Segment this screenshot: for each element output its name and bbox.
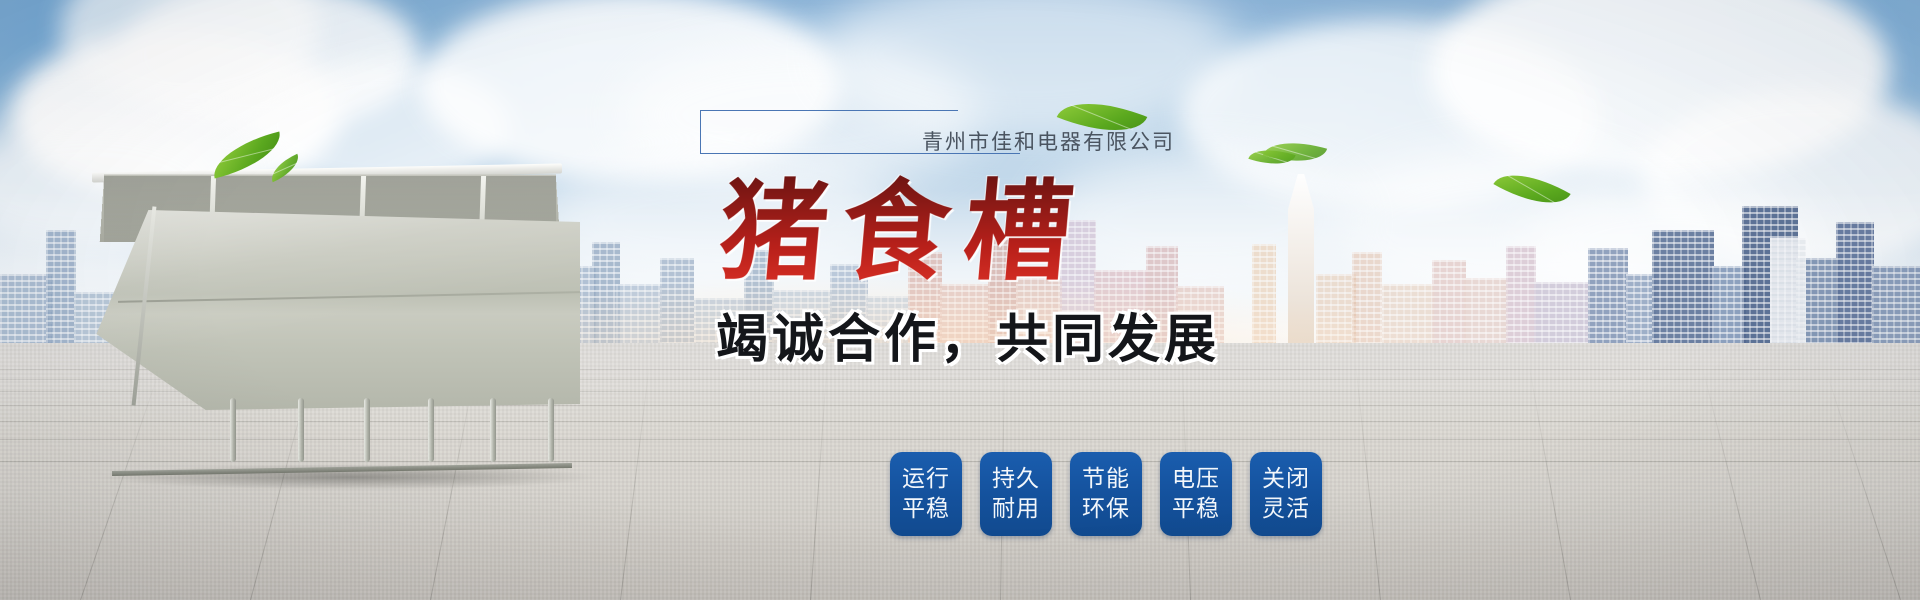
badge-line-1: 电压 bbox=[1172, 464, 1220, 494]
feature-badge[interactable]: 电压 平稳 bbox=[1160, 452, 1232, 536]
company-name-row: 青州市佳和电器有限公司 bbox=[700, 100, 1440, 166]
feature-badge[interactable]: 运行 平稳 bbox=[890, 452, 962, 536]
feature-badge[interactable]: 持久 耐用 bbox=[980, 452, 1052, 536]
tagline: 竭诚合作，共同发展 bbox=[716, 297, 1440, 372]
badge-line-2: 灵活 bbox=[1262, 494, 1310, 524]
banner-copy-block: 青州市佳和电器有限公司 猪食槽 竭诚合作，共同发展 bbox=[700, 100, 1440, 372]
product-image-pig-feeding-trough bbox=[60, 150, 580, 480]
badge-line-1: 运行 bbox=[902, 464, 950, 494]
badge-line-2: 耐用 bbox=[992, 494, 1040, 524]
feature-badge[interactable]: 节能 环保 bbox=[1070, 452, 1142, 536]
decorative-frame bbox=[700, 110, 958, 154]
feature-badge-list: 运行 平稳 持久 耐用 节能 环保 电压 平稳 关闭 灵活 bbox=[890, 452, 1322, 536]
badge-line-1: 关闭 bbox=[1262, 464, 1310, 494]
badge-line-2: 平稳 bbox=[902, 494, 950, 524]
company-name: 青州市佳和电器有限公司 bbox=[922, 126, 1175, 156]
feature-badge[interactable]: 关闭 灵活 bbox=[1250, 452, 1322, 536]
badge-line-1: 节能 bbox=[1082, 464, 1130, 494]
badge-line-2: 平稳 bbox=[1172, 494, 1220, 524]
badge-line-1: 持久 bbox=[992, 464, 1040, 494]
page-title: 猪食槽 bbox=[715, 174, 1091, 291]
badge-line-2: 环保 bbox=[1082, 494, 1130, 524]
promotional-banner: 青州市佳和电器有限公司 猪食槽 竭诚合作，共同发展 运行 平稳 持久 耐用 节能… bbox=[0, 0, 1920, 600]
